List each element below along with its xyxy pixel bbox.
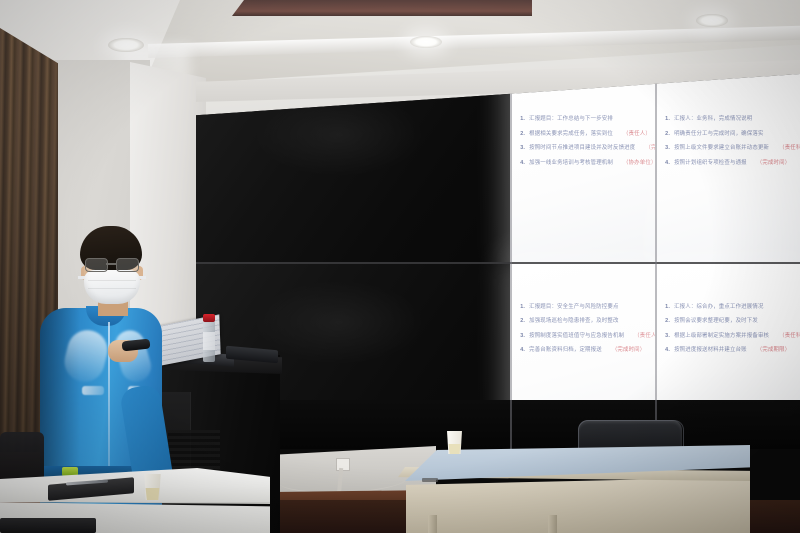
slide-line-number: 4.: [665, 348, 670, 353]
slide-line: 4. 按照进度报送材料并建立台账 （完成期限）: [665, 348, 791, 353]
face-mask: [84, 270, 140, 304]
slide-line-text: 根据相关要求完成任务，落实到位: [529, 132, 613, 137]
slide-line-highlight: （责任人）: [634, 334, 655, 339]
ceiling-downlight-icon: [108, 38, 144, 52]
slide-line-highlight: （完成时间）: [612, 348, 646, 353]
slide-line: 3. 按照上级文件要求建立台账并动态更新 （责任科室）: [665, 146, 791, 151]
slide-line-text: 明确责任分工与完成时间，确保落实: [674, 132, 763, 137]
conference-desk: [398, 445, 750, 533]
slide-line-highlight: （完成期限）: [645, 146, 655, 151]
slide-line-number: 1.: [520, 305, 525, 310]
video-wall-panel-top-mid[interactable]: 1. 汇报题目：工作总结与下一步安排 2. 根据相关要求完成任务，落实到位 （责…: [510, 74, 655, 262]
slide-line-highlight: （协办单位）: [623, 161, 655, 166]
foreground-table-top: [0, 468, 270, 502]
slide-line-number: 2.: [665, 319, 670, 324]
slide-line-number: 2.: [665, 132, 670, 137]
slide-line-text: 按照时间节点推进项目建设并及时反馈进度: [529, 146, 635, 151]
slide-line: 4. 按照计划组织专项检查与通报 （完成时间）: [665, 161, 791, 166]
video-wall-lower-dark-band: [196, 400, 800, 449]
slide-line: 1. 汇报人：综合办，重点工作进展情况: [665, 305, 791, 310]
slide-line-text: 根据上级部署制定实施方案并报备审核: [674, 334, 769, 339]
video-wall-bezel-vertical: [655, 74, 657, 449]
slide-line-text: 汇报人：综合办，重点工作进展情况: [674, 305, 763, 310]
video-wall-bezel-horizontal: [196, 262, 800, 264]
paper-cup-contents: [145, 488, 160, 500]
slide-line-text: 按照制度落实值班值守与应急报告机制: [529, 334, 624, 339]
slide-line-number: 4.: [520, 161, 525, 166]
slide-line: 2. 加强现场巡检与隐患排查，及时整改: [520, 319, 646, 324]
glasses-bridge: [106, 263, 116, 265]
glasses-lens: [85, 258, 108, 272]
slide-line-highlight: （责任科室）: [779, 146, 800, 151]
slide-line: 4. 加强一线业务培训与考核管理机制 （协办单位）: [520, 161, 646, 166]
slide-line: 2. 按照会议要求整理纪要，及时下发: [665, 319, 791, 324]
slide-line: 1. 汇报题目：安全生产与风险防控要点: [520, 305, 646, 310]
slide-line-text: 完善台账资料归档，定期报送: [529, 348, 602, 353]
slide-line-text: 按照上级文件要求建立台账并动态更新: [674, 146, 769, 151]
slide-line-number: 1.: [520, 117, 525, 122]
slide-line-number: 2.: [520, 132, 525, 137]
slide-line-text: 加强一线业务培训与考核管理机制: [529, 161, 613, 166]
slide-line-number: 3.: [520, 334, 525, 339]
jacket-logo: [82, 386, 104, 395]
glasses-icon: [84, 258, 140, 270]
video-wall[interactable]: 1. 汇报题目：工作总结与下一步安排 2. 根据相关要求完成任务，落实到位 （责…: [196, 74, 800, 449]
paper-cup-contents: [448, 444, 461, 454]
slide-line-highlight: （完成时间）: [757, 161, 791, 166]
slide-line-text: 加强现场巡检与隐患排查，及时整改: [529, 319, 618, 324]
slide-line-number: 3.: [665, 146, 670, 151]
water-bottle-label: [203, 332, 215, 350]
slide-line: 4. 完善台账资料归档，定期报送 （完成时间）: [520, 348, 646, 353]
slide-line-number: 1.: [665, 305, 670, 310]
conference-room-photo: 1. 汇报题目：工作总结与下一步安排 2. 根据相关要求完成任务，落实到位 （责…: [0, 0, 800, 533]
slide-line: 3. 根据上级部署制定实施方案并报备审核 （责任科室）: [665, 334, 791, 339]
slide-line-highlight: （责任科室）: [779, 334, 800, 339]
ceiling-downlight-icon: [410, 36, 442, 48]
slide-content-b: 1. 汇报人：业务科，完成情况说明 2. 明确责任分工与完成时间，确保落实 3.…: [655, 74, 800, 262]
slide-line: 2. 根据相关要求完成任务，落实到位 （责任人）: [520, 132, 646, 137]
slide-line: 1. 汇报题目：工作总结与下一步安排: [520, 117, 646, 122]
slide-line-highlight: （完成期限）: [757, 348, 791, 353]
mask-strap: [139, 276, 146, 279]
slide-line-number: 4.: [520, 348, 525, 353]
slide-line-number: 3.: [665, 334, 670, 339]
slide-line-text: 汇报题目：工作总结与下一步安排: [529, 117, 613, 122]
ceiling-downlight-icon: [696, 14, 728, 27]
slide-line-highlight: （责任人）: [623, 132, 651, 137]
ceiling-recess-trim: [232, 0, 532, 16]
slide-line-number: 2.: [520, 319, 525, 324]
slide-line-number: 1.: [665, 117, 670, 122]
slide-line-number: 3.: [520, 146, 525, 151]
glasses-lens: [116, 258, 139, 272]
video-wall-panel-top-right[interactable]: 1. 汇报人：业务科，完成情况说明 2. 明确责任分工与完成时间，确保落实 3.…: [655, 74, 800, 262]
slide-line: 3. 按照制度落实值班值守与应急报告机制 （责任人）: [520, 334, 646, 339]
foreground-object: [0, 518, 96, 533]
water-bottle-cap: [203, 314, 215, 322]
slide-line: 2. 明确责任分工与完成时间，确保落实: [665, 132, 791, 137]
desk-front-panel: [406, 477, 750, 533]
slide-line-text: 按照进度报送材料并建立台账: [674, 348, 747, 353]
video-wall-bezel-vertical: [510, 74, 512, 449]
slide-line-text: 汇报题目：安全生产与风险防控要点: [529, 305, 618, 310]
slide-line: 3. 按照时间节点推进项目建设并及时反馈进度 （完成期限）: [520, 146, 646, 151]
slide-line: 1. 汇报人：业务科，完成情况说明: [665, 117, 791, 122]
slide-line-number: 4.: [665, 161, 670, 166]
desk-hinge: [422, 478, 438, 482]
slide-line-text: 汇报人：业务科，完成情况说明: [674, 117, 752, 122]
slide-content-a: 1. 汇报题目：工作总结与下一步安排 2. 根据相关要求完成任务，落实到位 （责…: [510, 74, 655, 262]
desk-leg: [548, 515, 557, 533]
slide-line-text: 按照计划组织专项检查与通报: [674, 161, 747, 166]
desk-leg: [428, 515, 437, 533]
slide-line-text: 按照会议要求整理纪要，及时下发: [674, 319, 758, 324]
